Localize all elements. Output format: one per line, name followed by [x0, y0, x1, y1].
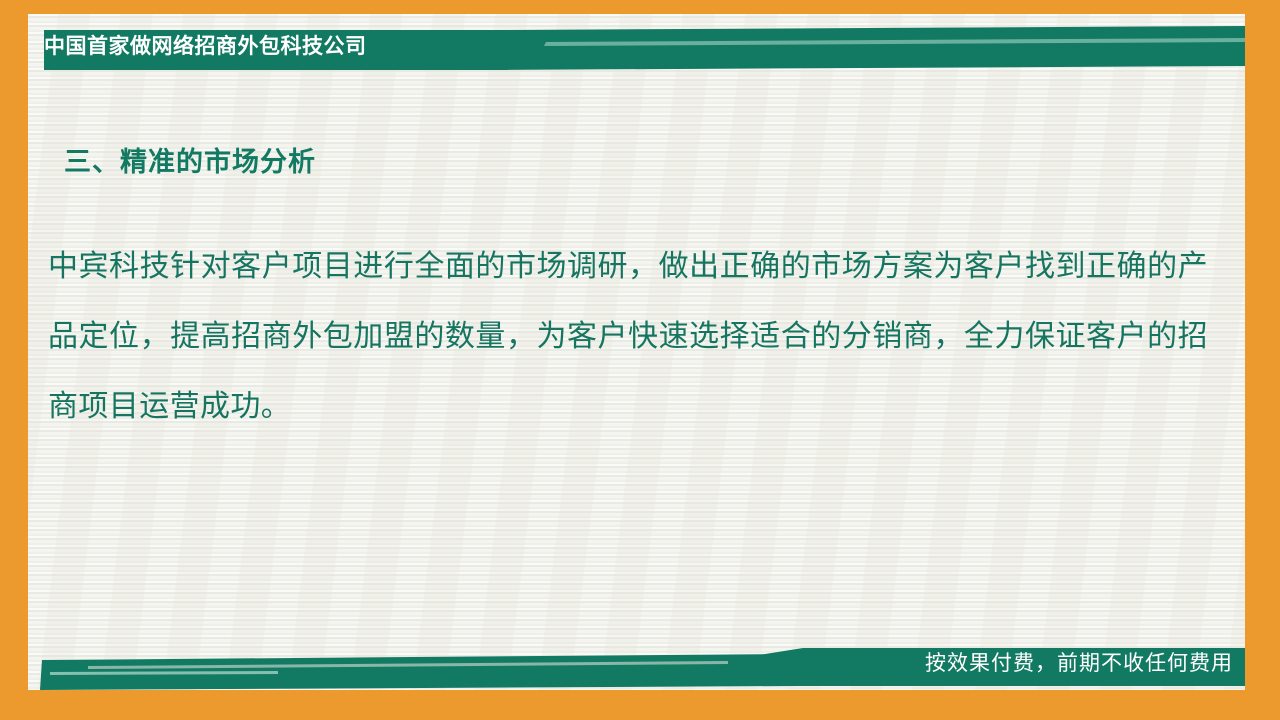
presentation-slide: 中国首家做网络招商外包科技公司 三、精准的市场分析 中宾科技针对客户项目进行全面…: [0, 0, 1280, 720]
header-title: 中国首家做网络招商外包科技公司: [44, 28, 514, 62]
section-heading: 三、精准的市场分析: [64, 140, 316, 179]
slide-footer: 按效果付费，前期不收任何费用: [28, 628, 1245, 690]
body-text-block: 中宾科技针对客户项目进行全面的市场调研，做出正确的市场方案为客户找到正确的产品定…: [48, 232, 1208, 442]
slide-header: 中国首家做网络招商外包科技公司: [28, 14, 1245, 76]
slide-canvas: 中国首家做网络招商外包科技公司 三、精准的市场分析 中宾科技针对客户项目进行全面…: [28, 14, 1245, 690]
footer-tagline: 按效果付费，前期不收任何费用: [925, 647, 1233, 677]
body-paragraph: 中宾科技针对客户项目进行全面的市场调研，做出正确的市场方案为客户找到正确的产品定…: [48, 232, 1208, 442]
